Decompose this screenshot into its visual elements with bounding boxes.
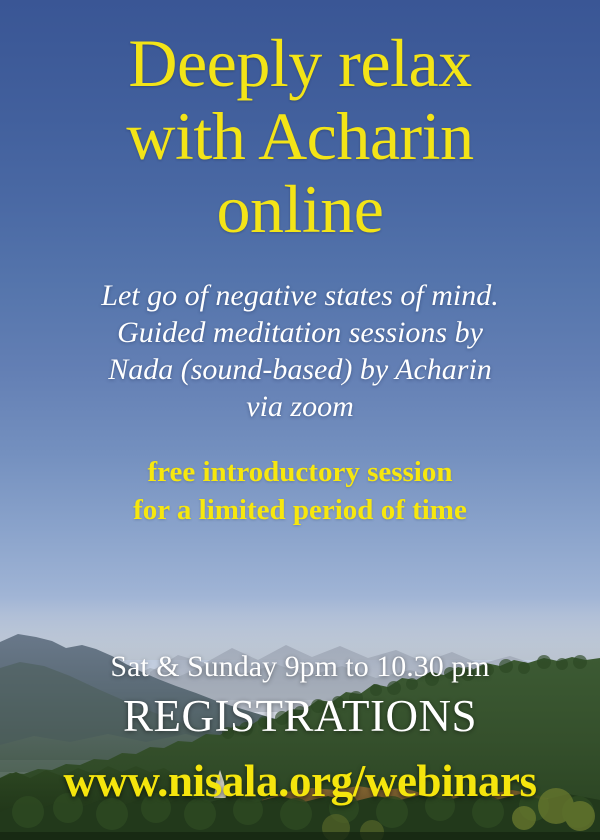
promo-line-2: for a limited period of time (0, 491, 600, 529)
subtitle-line-2: Guided meditation sessions by (0, 314, 600, 351)
headline-line-1: Deeply relax (0, 27, 600, 100)
subtitle-line-3: Nada (sound-based) by Acharin (0, 351, 600, 388)
promo-line-1: free introductory session (0, 453, 600, 491)
poster-canvas: Deeply relax with Acharin online Let go … (0, 0, 600, 840)
page-title: Deeply relax with Acharin online (0, 27, 600, 246)
registrations-heading: REGISTRATIONS (0, 692, 600, 741)
subtitle-description: Let go of negative states of mind. Guide… (0, 277, 600, 425)
headline-line-3: online (0, 173, 600, 246)
promo-offer: free introductory session for a limited … (0, 453, 600, 529)
schedule-text: Sat & Sunday 9pm to 10.30 pm (0, 650, 600, 684)
subtitle-line-4: via zoom (0, 388, 600, 425)
headline-line-2: with Acharin (0, 100, 600, 173)
website-url-link[interactable]: www.nisala.org/webinars (0, 756, 600, 806)
subtitle-line-1: Let go of negative states of mind. (0, 277, 600, 314)
